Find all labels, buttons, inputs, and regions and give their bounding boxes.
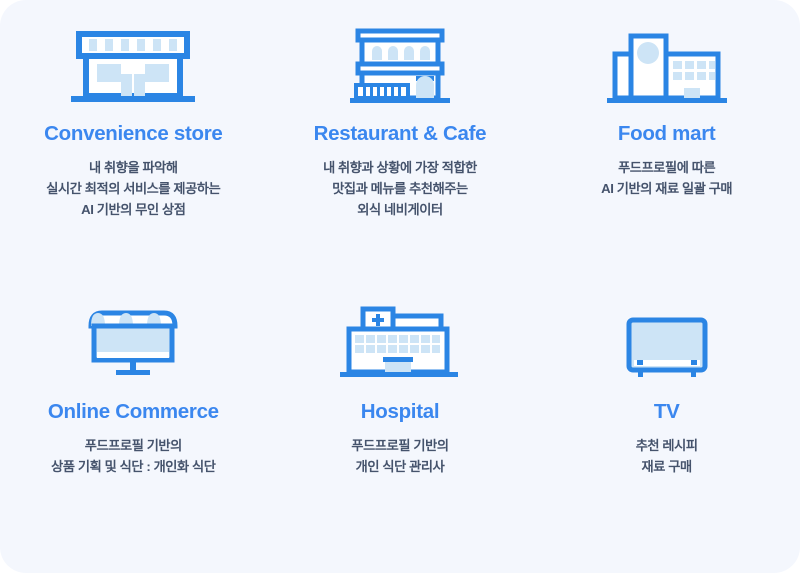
- card-description: 푸드프로필 기반의 상품 기획 및 식단 : 개인화 식단: [51, 435, 215, 478]
- tv-icon: [621, 300, 713, 380]
- card-description: 푸드프로필 기반의 개인 식단 관리사: [351, 435, 448, 478]
- card-description: 내 취향과 상황에 가장 적합한 맛집과 메뉴를 추천해주는 외식 네비게이터: [323, 157, 477, 221]
- card-title: Food mart: [618, 124, 716, 145]
- service-card-hospital[interactable]: Hospital 푸드프로필 기반의 개인 식단 관리사: [267, 300, 534, 550]
- card-title: TV: [654, 402, 680, 423]
- card-title: Online Commerce: [48, 402, 219, 423]
- service-showcase-panel: Convenience store 내 취향을 파악해 실시간 최적의 서비스를…: [0, 0, 800, 573]
- hospital-icon: [335, 300, 465, 380]
- card-title: Hospital: [361, 402, 439, 423]
- online-commerce-icon: [78, 300, 188, 380]
- card-description: 푸드프로필에 따른 AI 기반의 재료 일괄 구매: [601, 157, 732, 200]
- restaurant-cafe-icon: [342, 20, 458, 106]
- card-description: 추천 레시피 재료 구매: [636, 435, 698, 478]
- service-card-grid: Convenience store 내 취향을 파악해 실시간 최적의 서비스를…: [0, 0, 800, 573]
- service-card-food-mart[interactable]: Food mart 푸드프로필에 따른 AI 기반의 재료 일괄 구매: [533, 20, 800, 300]
- card-description: 내 취향을 파악해 실시간 최적의 서비스를 제공하는 AI 기반의 무인 상점: [46, 157, 220, 221]
- card-title: Convenience store: [44, 124, 222, 145]
- card-title: Restaurant & Cafe: [314, 124, 487, 145]
- service-card-restaurant-cafe[interactable]: Restaurant & Cafe 내 취향과 상황에 가장 적합한 맛집과 메…: [267, 20, 534, 300]
- food-mart-icon: [604, 20, 730, 106]
- service-card-online-commerce[interactable]: Online Commerce 푸드프로필 기반의 상품 기획 및 식단 : 개…: [0, 300, 267, 550]
- convenience-store-icon: [67, 20, 199, 106]
- service-card-tv[interactable]: TV 추천 레시피 재료 구매: [533, 300, 800, 550]
- service-card-convenience-store[interactable]: Convenience store 내 취향을 파악해 실시간 최적의 서비스를…: [0, 20, 267, 300]
